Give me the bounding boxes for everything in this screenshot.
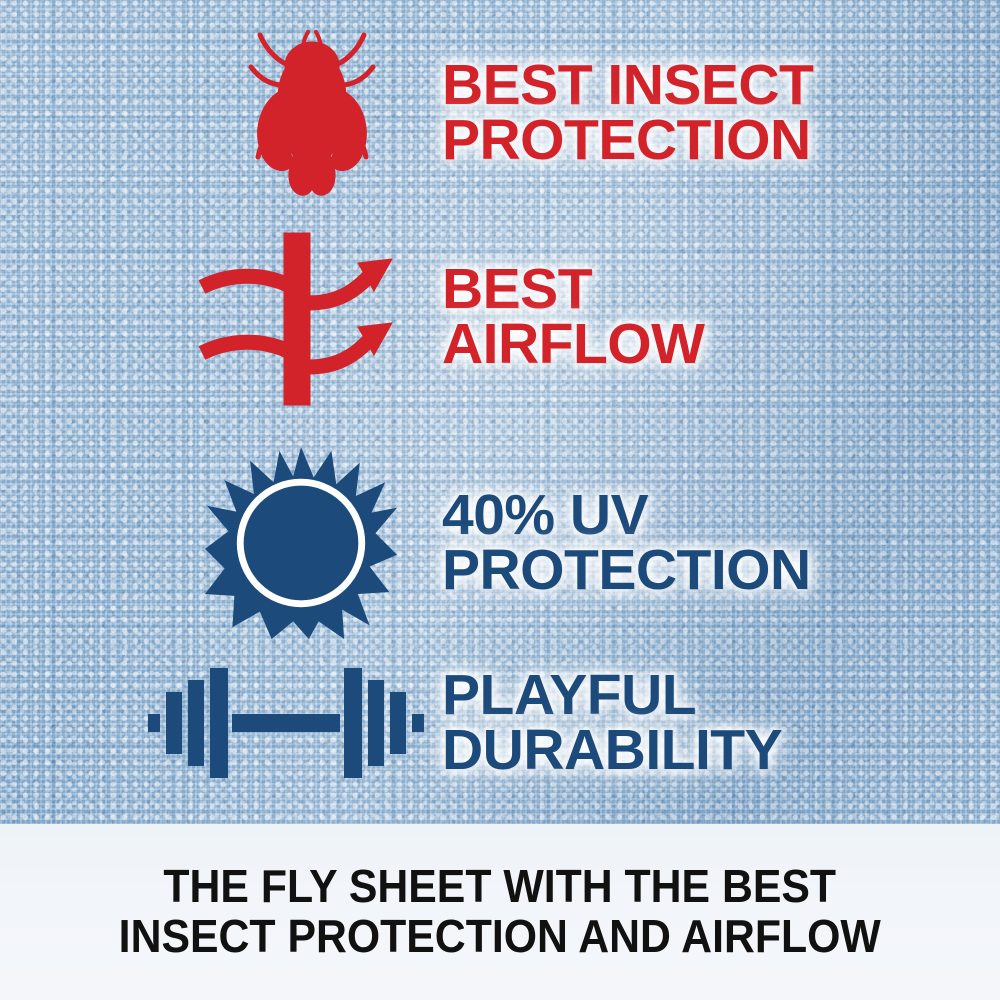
feature-row-insect-protection: BEST INSECT PROTECTION xyxy=(180,22,1000,204)
fly-icon xyxy=(236,23,386,203)
airflow-icon xyxy=(196,225,396,410)
feature-label-insect-protection: BEST INSECT PROTECTION xyxy=(442,58,813,167)
feature-list: BEST INSECT PROTECTION xyxy=(0,0,1000,824)
dumbbell-icon xyxy=(146,658,426,788)
bottom-banner: THE FLY SHEET WITH THE BEST INSECT PROTE… xyxy=(0,824,1000,1000)
banner-headline: THE FLY SHEET WITH THE BEST INSECT PROTE… xyxy=(119,862,881,961)
feature-row-uv-protection: 40% UV PROTECTION xyxy=(160,444,1000,642)
sun-icon xyxy=(203,445,399,641)
feature-label-uv-protection: 40% UV PROTECTION xyxy=(442,488,811,597)
dumbbell-icon-slot xyxy=(130,658,442,788)
sun-icon-slot xyxy=(160,445,442,641)
feature-label-airflow: BEST AIRFLOW xyxy=(442,262,704,371)
product-feature-infographic: BEST INSECT PROTECTION xyxy=(0,0,1000,1000)
feature-row-durability: PLAYFUL DURABILITY xyxy=(130,648,1000,798)
fly-icon-slot xyxy=(180,23,442,203)
feature-label-durability: PLAYFUL DURABILITY xyxy=(442,668,782,777)
feature-row-airflow: BEST AIRFLOW xyxy=(150,222,1000,412)
airflow-icon-slot xyxy=(150,225,442,410)
